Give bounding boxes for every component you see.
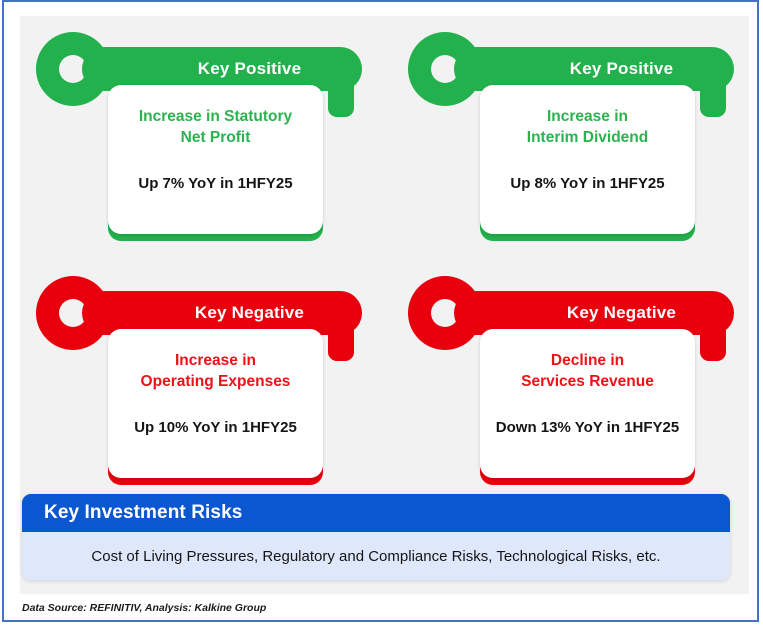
card-headline-line1: Increase in [547,108,628,125]
risks-panel-body: Cost of Living Pressures, Regulatory and… [22,532,730,580]
card-headline-line1: Increase in Statutory [139,108,292,125]
card-headline-line2: Operating Expenses [141,373,291,390]
card-metric: Up 8% YoY in 1HFY25 [480,175,695,192]
key-card-operating-expenses: Key Negative Increase in Operating Expen… [36,266,384,491]
risks-panel-header: Key Investment Risks [22,494,730,532]
key-card-services-revenue: Key Negative Decline in Services Revenue… [408,266,756,491]
card-body: Decline in Services Revenue Down 13% YoY… [480,329,695,478]
risks-panel-title: Key Investment Risks [44,502,242,524]
key-tooth-icon [328,74,354,117]
source-footnote: Data Source: REFINITIV, Analysis: Kalkin… [22,602,266,614]
infographic-frame: Key Positive Increase in Statutory Net P… [2,0,759,622]
card-body: Increase in Statutory Net Profit Up 7% Y… [108,85,323,234]
key-tooth-icon [700,318,726,361]
card-headline: Decline in Services Revenue [486,351,689,393]
card-body: Increase in Interim Dividend Up 8% YoY i… [480,85,695,234]
key-tooth-icon [328,318,354,361]
card-headline: Increase in Operating Expenses [114,351,317,393]
card-headline-line1: Increase in [175,352,256,369]
card-title: Key Positive [515,59,674,79]
card-headline-line2: Net Profit [181,129,251,146]
key-tooth-icon [700,74,726,117]
card-headline-line2: Services Revenue [521,373,654,390]
card-body: Increase in Operating Expenses Up 10% Yo… [108,329,323,478]
card-headline-line1: Decline in [551,352,624,369]
card-headline-line2: Interim Dividend [527,129,648,146]
key-card-interim-dividend: Key Positive Increase in Interim Dividen… [408,22,756,247]
card-title: Key Negative [140,303,304,323]
risks-panel-text: Cost of Living Pressures, Regulatory and… [91,548,660,565]
card-title: Key Positive [143,59,302,79]
key-card-statutory-net-profit: Key Positive Increase in Statutory Net P… [36,22,384,247]
card-headline: Increase in Interim Dividend [486,107,689,149]
key-investment-risks-panel: Key Investment Risks Cost of Living Pres… [22,494,730,580]
card-headline: Increase in Statutory Net Profit [114,107,317,149]
card-metric: Down 13% YoY in 1HFY25 [466,419,709,436]
card-metric: Up 10% YoY in 1HFY25 [94,419,337,436]
card-metric: Up 7% YoY in 1HFY25 [108,175,323,192]
card-title: Key Negative [512,303,676,323]
